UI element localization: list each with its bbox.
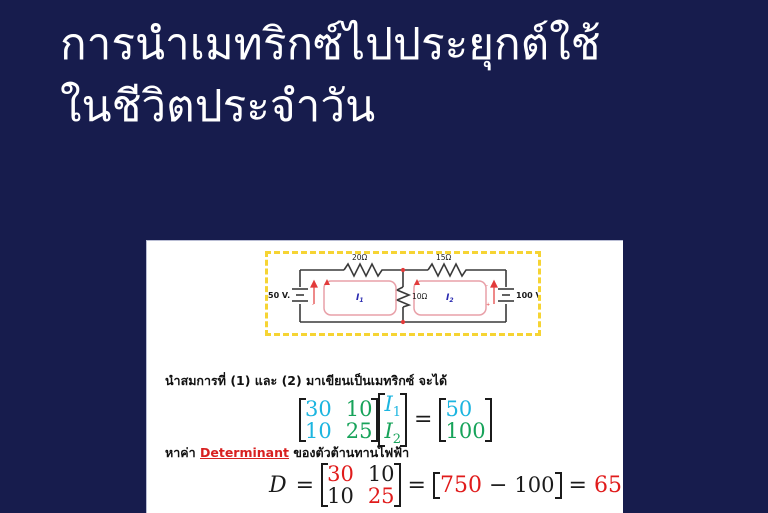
label-resistor-10: 10Ω	[412, 292, 428, 301]
title-line-1: การนำเมทริกซ์ไปประยุกต์ใช้	[60, 14, 740, 76]
resistor-15-ohm	[428, 264, 468, 276]
battery-50v	[292, 289, 308, 301]
coef-r2c2: 25	[346, 420, 373, 442]
expansion-minus: −	[482, 473, 514, 498]
det-r1c1: 30	[327, 463, 354, 485]
unknown-vector: I1 I2	[378, 393, 407, 447]
resistor-10-ohm	[397, 287, 409, 307]
title-line-2: ในชีวิตประจำวัน	[60, 76, 740, 138]
det-equals-3: =	[562, 473, 594, 498]
page-title: การนำเมทริกซ์ไปประยุกต์ใช้ ในชีวิตประจำว…	[60, 14, 740, 139]
det-r2c2: 25	[368, 485, 395, 507]
determinant-keyword: Determinant	[200, 445, 289, 460]
node-bottom	[401, 320, 405, 324]
label-resistor-20: 20Ω	[352, 254, 368, 262]
label-resistor-15: 15Ω	[436, 254, 452, 262]
determinant-matrix: 30 10 10 25	[321, 463, 400, 507]
result-vector: 50 100	[439, 398, 491, 442]
polarity-plus-left: +	[312, 283, 316, 289]
equation-intro-text: นำสมการที่ (1) และ (2) มาเขียนเป็นเมทริก…	[165, 371, 447, 391]
determinant-symbol: D	[269, 473, 289, 498]
battery-100v	[498, 289, 514, 301]
label-current-i2: I2	[446, 293, 454, 304]
circuit-schematic-svg: + - - + 20Ω 15Ω 10Ω 50 V. 100 V. I1	[268, 254, 538, 333]
coefficient-matrix: 30 10 10 25	[299, 398, 378, 442]
polarity-minus-left: -	[312, 302, 314, 308]
determinant-suffix: ของตัวต้านทานไฟฟ้า	[289, 445, 409, 460]
label-source-50v: 50 V.	[268, 291, 290, 300]
matrix-equation: 30 10 10 25 I1 I2 =	[299, 393, 492, 447]
content-panel: + - - + 20Ω 15Ω 10Ω 50 V. 100 V. I1	[146, 240, 623, 513]
determinant-expansion: 750 − 100	[433, 472, 562, 499]
slide-canvas: การนำเมทริกซ์ไปประยุกต์ใช้ ในชีวิตประจำว…	[0, 0, 768, 512]
expansion-second: 100	[514, 473, 554, 497]
label-current-i1: I1	[356, 293, 364, 304]
coef-r1c2: 10	[346, 398, 373, 420]
circuit-wires	[300, 270, 506, 322]
determinant-value: 650	[594, 473, 623, 498]
det-r2c1: 10	[327, 485, 354, 507]
det-equals-2: =	[401, 473, 433, 498]
resistor-20-ohm	[344, 264, 384, 276]
node-top	[401, 268, 405, 272]
determinant-prefix: หาค่า	[165, 445, 200, 460]
determinant-equation: D = 30 10 10 25 = 750 − 100 = 650	[269, 463, 623, 507]
unknown-r1: I1	[384, 393, 401, 420]
expansion-first: 750	[440, 473, 482, 498]
label-source-100v: 100 V.	[516, 291, 538, 300]
coef-r2c1: 10	[305, 420, 332, 442]
result-r1: 50	[445, 398, 485, 420]
circuit-diagram: + - - + 20Ω 15Ω 10Ω 50 V. 100 V. I1	[265, 251, 541, 336]
det-r1c2: 10	[368, 463, 395, 485]
det-equals-1: =	[289, 473, 321, 498]
equation-equals: =	[407, 407, 439, 432]
result-r2: 100	[445, 420, 485, 442]
coef-r1c1: 30	[305, 398, 332, 420]
determinant-intro-text: หาค่า Determinant ของตัวต้านทานไฟฟ้า	[165, 443, 409, 463]
